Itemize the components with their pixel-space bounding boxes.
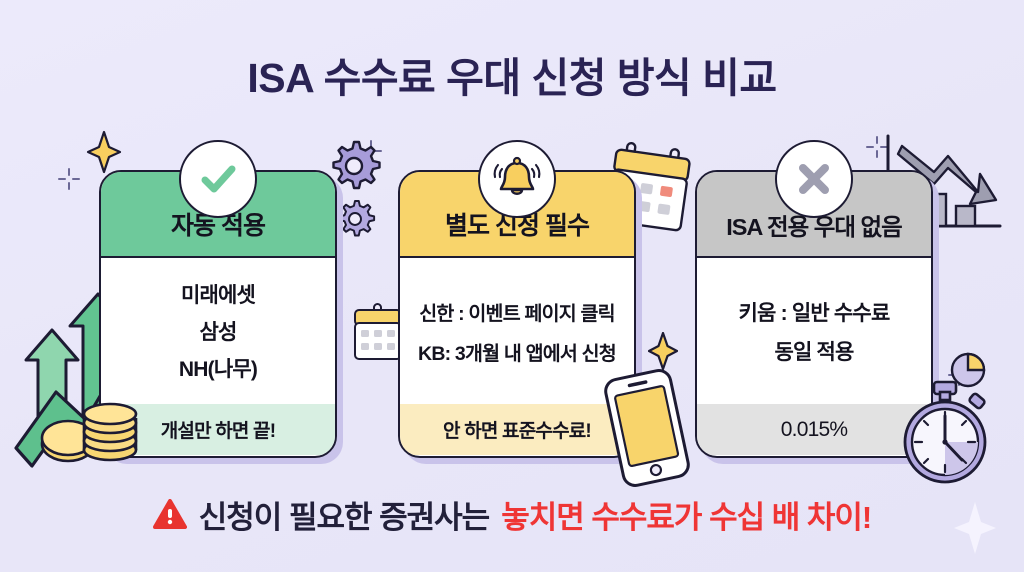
banner-text-red: 놓치면 수수료가 수십 배 차이! [501, 492, 871, 537]
plus-sparkle-icon [866, 136, 888, 158]
bottom-warning-banner: 신청이 필요한 증권사는 놓치면 수수료가 수십 배 차이! [0, 492, 1024, 537]
pie-chart-icon [948, 350, 988, 390]
card-body: 미래에셋 삼성 NH(나무) [101, 258, 335, 404]
infographic-canvas: ISA 수수료 우대 신청 방식 비교 [0, 0, 1024, 572]
page-title: ISA 수수료 우대 신청 방식 비교 [0, 44, 1024, 104]
card-body-line: 신한 : 이벤트 페이지 클릭 [419, 297, 615, 326]
check-circle-badge [179, 140, 257, 218]
bell-circle-badge [478, 140, 556, 218]
warning-triangle-icon [153, 499, 187, 530]
plus-sparkle-icon [58, 168, 80, 190]
card-footer: 안 하면 표준수수료! [400, 404, 634, 455]
card-body-line: 키움 : 일반 수수료 [739, 297, 890, 327]
card-body: 신한 : 이벤트 페이지 클릭 KB: 3개월 내 앱에서 신청 [400, 258, 634, 404]
card-body-line: KB: 3개월 내 앱에서 신청 [418, 337, 616, 366]
sparkle-icon [86, 130, 122, 174]
card-footer-label: 0.015% [781, 418, 847, 442]
x-circle-badge [775, 140, 853, 218]
card-footer-label: 개설만 하면 끝! [161, 416, 276, 443]
sparkle-icon [648, 332, 678, 370]
banner-text-dark: 신청이 필요한 증권사는 [199, 492, 489, 537]
card-body-line: 삼성 [199, 316, 236, 346]
card-body-line: 동일 적용 [774, 336, 853, 366]
card-footer: 0.015% [697, 404, 931, 455]
card-footer: 개설만 하면 끝! [101, 404, 335, 455]
bell-icon [489, 151, 545, 207]
plus-sparkle-icon [948, 364, 970, 386]
check-icon [194, 155, 242, 203]
card-body-line: 미래에셋 [181, 279, 255, 309]
card-body-line: NH(나무) [179, 353, 257, 383]
close-icon [790, 155, 838, 203]
card-body: 키움 : 일반 수수료 동일 적용 [697, 258, 931, 404]
card-footer-label: 안 하면 표준수수료! [443, 416, 591, 443]
calendar-icon [352, 302, 404, 364]
plus-sparkle-icon [360, 140, 382, 162]
